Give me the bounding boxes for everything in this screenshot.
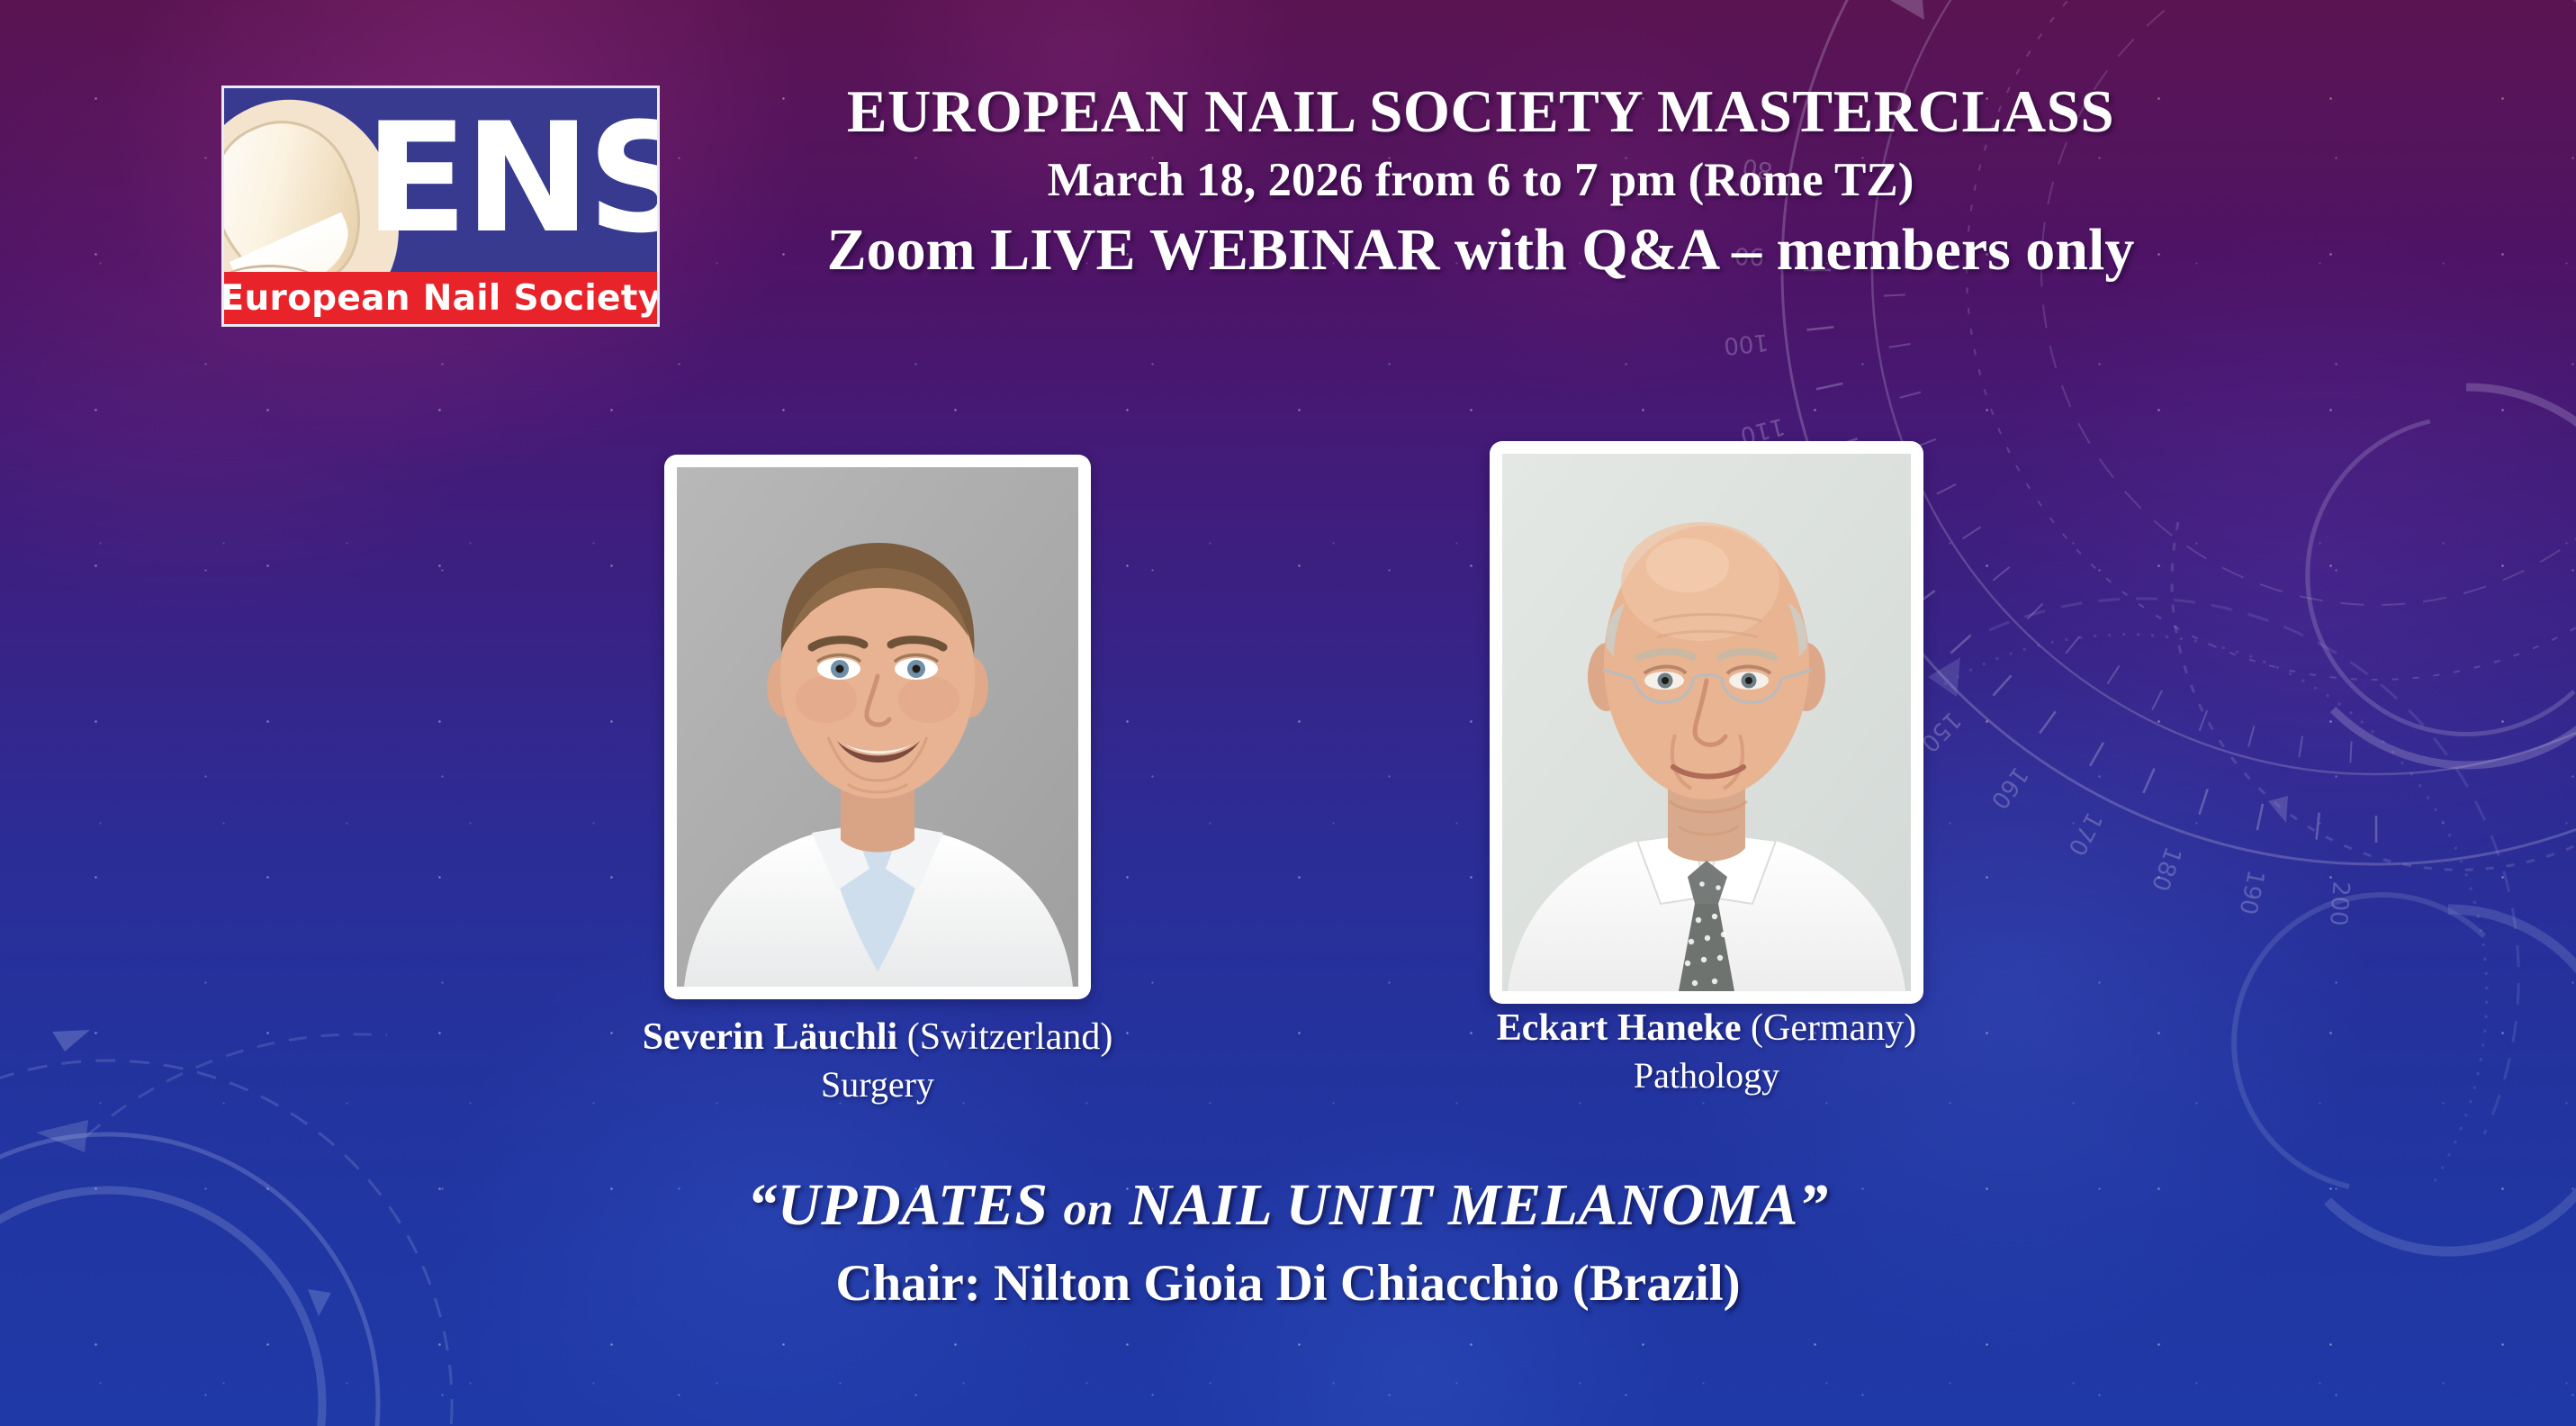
svg-text:190: 190 xyxy=(2233,868,2269,917)
svg-text:170: 170 xyxy=(2062,808,2107,860)
speaker-name-text-1: Severin Läuchli xyxy=(643,1016,898,1058)
speaker-country-1: (Switzerland) xyxy=(907,1016,1113,1058)
logo-top-panel: ENS xyxy=(224,88,657,275)
speaker-name-text-2: Eckart Haneke xyxy=(1497,1007,1742,1049)
header-datetime: March 18, 2026 from 6 to 7 pm (Rome TZ) xyxy=(684,148,2277,212)
svg-text:180: 180 xyxy=(2146,844,2186,895)
webinar-poster: 200 190 180 170 160 150 140 130 120 110 … xyxy=(0,0,2576,1426)
session-title-part1: “UPDATES xyxy=(747,1172,1063,1238)
header-title: EUROPEAN NAIL SOCIETY MASTERCLASS xyxy=(684,76,2277,148)
speaker-country-2: (Germany) xyxy=(1751,1007,1916,1049)
speaker-caption-1: Severin Läuchli (Switzerland) Surgery xyxy=(610,1013,1145,1108)
svg-text:200: 200 xyxy=(2324,880,2354,927)
ens-logo: ENS European Nail Society xyxy=(221,86,660,327)
photo-frame-1 xyxy=(664,455,1091,999)
session-title-lower: on xyxy=(1064,1184,1114,1235)
session-chair: Chair: Nilton Gioia Di Chiacchio (Brazil… xyxy=(0,1249,2576,1319)
speaker-name-2: Eckart Haneke (Germany) xyxy=(1437,1004,1976,1052)
session-title: “UPDATES on NAIL UNIT MELANOMA” xyxy=(0,1167,2576,1249)
speaker-role-1: Surgery xyxy=(610,1061,1145,1108)
header-block: EUROPEAN NAIL SOCIETY MASTERCLASS March … xyxy=(684,76,2277,288)
svg-text:160: 160 xyxy=(1985,762,2032,814)
speaker-name-1: Severin Läuchli (Switzerland) xyxy=(610,1013,1145,1061)
session-title-part2: NAIL UNIT MELANOMA” xyxy=(1113,1172,1828,1238)
speaker-caption-2: Eckart Haneke (Germany) Pathology xyxy=(1437,1004,1976,1099)
speaker-role-2: Pathology xyxy=(1437,1052,1976,1099)
portrait-eckart-haneke xyxy=(1502,454,1911,991)
svg-text:100: 100 xyxy=(1723,328,1770,359)
logo-acronym: ENS xyxy=(365,103,657,254)
bottom-block: “UPDATES on NAIL UNIT MELANOMA” Chair: N… xyxy=(0,1167,2576,1319)
header-format: Zoom LIVE WEBINAR with Q&A – members onl… xyxy=(684,212,2277,288)
photo-frame-2 xyxy=(1490,441,1923,1004)
portrait-severin-lauchli xyxy=(677,467,1078,987)
logo-name-band: European Nail Society xyxy=(224,272,657,324)
logo-band-label: European Nail Society xyxy=(221,278,660,319)
